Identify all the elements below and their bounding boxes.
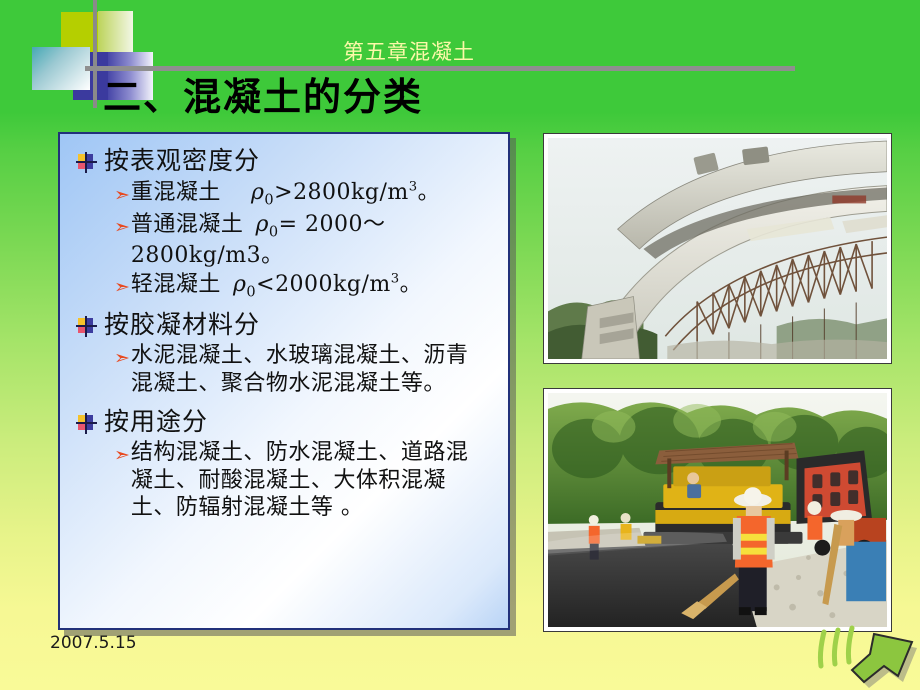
list-item-heading: 按胶凝材料分: [68, 310, 498, 341]
list-item-heading: 按用途分: [68, 407, 498, 438]
density-row-heavy: 重混凝土ρ0>2800kg/m3。: [131, 179, 440, 210]
content-panel: 按表观密度分 ➣ 重混凝土ρ0>2800kg/m3。 ➣ 普通混凝土ρ0= 20…: [58, 132, 510, 630]
period-mark: 。: [418, 180, 441, 205]
unit-exponent: 3: [409, 179, 418, 194]
group-heading-density: 按表观密度分: [104, 146, 260, 177]
unit-exponent: 3: [391, 271, 400, 286]
logo-square-teal: [32, 47, 90, 90]
relation-operator: =: [279, 212, 298, 237]
density-row-normal: 普通混凝土ρ0= 2000～2800kg/m3。: [131, 211, 498, 270]
page-title: 二、混凝土的分类: [103, 66, 423, 121]
usage-paragraph: 结构混凝土、防水混凝土、道路混凝土、耐酸混凝土、大体积混凝土、防辐射混凝土等 。: [131, 439, 476, 521]
arrow-bullet-icon: ➣: [114, 278, 130, 297]
arrow-bullet-icon: ➣: [114, 446, 130, 465]
density-value: 2000kg/m: [275, 272, 391, 297]
slide-canvas: 第五章混凝土 二、混凝土的分类 按表观密度分 ➣ 重混凝土ρ0>2800kg/m…: [0, 0, 920, 690]
relation-operator: <: [256, 272, 275, 297]
density-label: 轻混凝土: [131, 272, 221, 297]
arrow-bullet-icon: ➣: [114, 349, 130, 368]
binder-paragraph: 水泥混凝土、水玻璃混凝土、沥青混凝土、聚合物水泥混凝土等。: [131, 342, 471, 397]
green-arrow-icon: [790, 620, 920, 690]
photo-asphalt-road-paving: [543, 388, 892, 632]
rho-subscript: 0: [246, 284, 256, 300]
paving-photo-illustration: [548, 393, 887, 627]
group-heading-binder: 按胶凝材料分: [104, 310, 260, 341]
cross-bullet-icon: [78, 415, 95, 432]
list-item: ➣ 普通混凝土ρ0= 2000～2800kg/m3。: [68, 211, 498, 270]
photo-concrete-arch-bridge: [543, 133, 892, 364]
density-row-light: 轻混凝土ρ0<2000kg/m3。: [131, 271, 422, 302]
rho-symbol: ρ: [233, 272, 246, 297]
list-item: ➣ 重混凝土ρ0>2800kg/m3。: [68, 179, 498, 210]
list-item: ➣ 结构混凝土、防水混凝土、道路混凝土、耐酸混凝土、大体积混凝土、防辐射混凝土等…: [68, 439, 498, 521]
list-item-heading: 按表观密度分: [68, 146, 498, 177]
period-mark: 。: [261, 243, 284, 268]
logo-vertical-line: [93, 0, 97, 108]
rho-subscript: 0: [269, 224, 279, 240]
period-mark: 。: [400, 272, 423, 297]
corner-arrow-decoration: [790, 620, 920, 690]
density-value: 2800kg/m: [293, 180, 409, 205]
density-label: 普通混凝土: [131, 212, 244, 237]
list-item: ➣ 轻混凝土ρ0<2000kg/m3。: [68, 271, 498, 302]
cross-bullet-icon: [78, 154, 95, 171]
list-item: ➣ 水泥混凝土、水玻璃混凝土、沥青混凝土、聚合物水泥混凝土等。: [68, 342, 498, 397]
rho-symbol: ρ: [255, 212, 268, 237]
arrow-bullet-icon: ➣: [114, 186, 130, 205]
rho-subscript: 0: [264, 192, 274, 208]
bridge-photo-illustration: [548, 138, 887, 359]
cross-bullet-icon: [78, 318, 95, 335]
density-label: 重混凝土: [131, 180, 221, 205]
rho-symbol: ρ: [251, 180, 264, 205]
group-heading-usage: 按用途分: [104, 407, 208, 438]
chapter-header: 第五章混凝土: [343, 36, 475, 66]
slide-date: 2007.5.15: [50, 633, 137, 653]
relation-operator: >: [274, 180, 293, 205]
arrow-bullet-icon: ➣: [114, 218, 130, 237]
